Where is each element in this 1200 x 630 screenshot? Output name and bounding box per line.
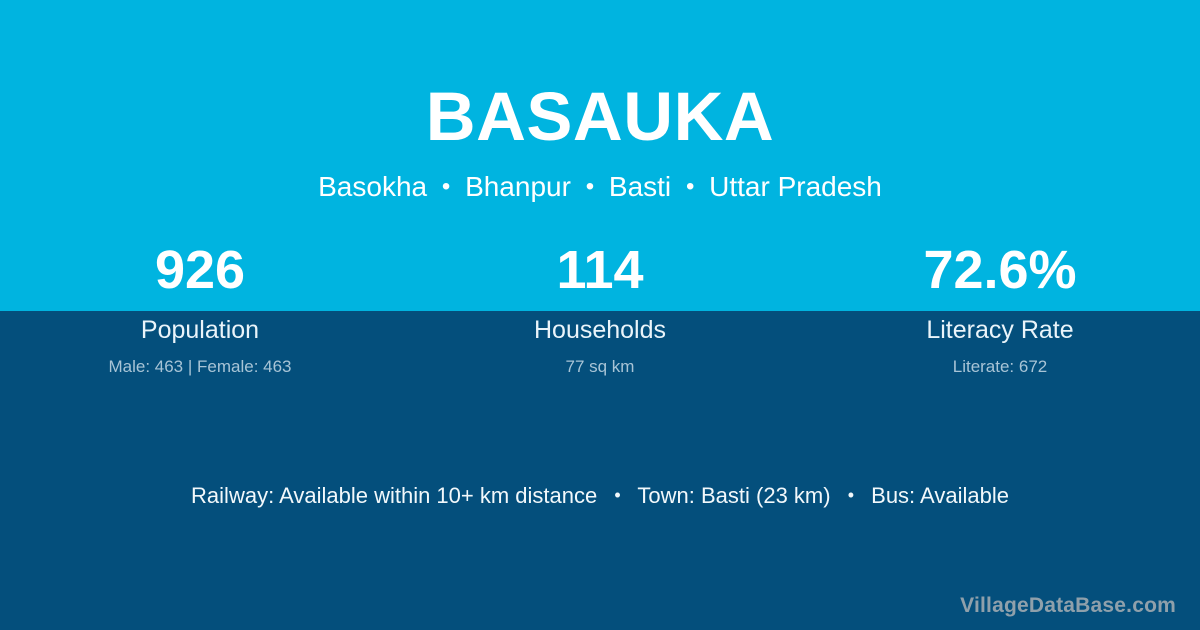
bullet-separator-icon: • (679, 173, 701, 200)
stats-row: 926 Population Male: 463 | Female: 463 1… (0, 243, 1200, 375)
stat-households: 114 Households 77 sq km (400, 243, 800, 375)
breadcrumb-item-block: Bhanpur (465, 171, 571, 202)
stat-sublabel: 77 sq km (400, 358, 800, 375)
breadcrumb-item-state: Uttar Pradesh (709, 171, 882, 202)
card-header: BASAUKA Basokha • Bhanpur • Basti • Utta… (0, 0, 1200, 201)
amenities-line: Railway: Available within 10+ km distanc… (0, 485, 1200, 507)
stat-value: 114 (400, 243, 800, 299)
stat-sublabel: Male: 463 | Female: 463 (0, 358, 400, 375)
bullet-separator-icon: • (603, 485, 631, 505)
stat-value: 926 (0, 243, 400, 299)
breadcrumb-item-village: Basokha (318, 171, 427, 202)
page-title: BASAUKA (0, 0, 1200, 151)
bullet-separator-icon: • (579, 173, 601, 200)
breadcrumb-item-district: Basti (609, 171, 671, 202)
stat-label: Population (0, 318, 400, 343)
stat-value: 72.6% (800, 243, 1200, 299)
amenity-bus: Bus: Available (871, 483, 1009, 508)
bullet-separator-icon: • (435, 173, 457, 200)
village-info-card: BASAUKA Basokha • Bhanpur • Basti • Utta… (0, 0, 1200, 630)
breadcrumb: Basokha • Bhanpur • Basti • Uttar Prades… (0, 151, 1200, 201)
stat-population: 926 Population Male: 463 | Female: 463 (0, 243, 400, 375)
amenity-town: Town: Basti (23 km) (637, 483, 830, 508)
stat-literacy-rate: 72.6% Literacy Rate Literate: 672 (800, 243, 1200, 375)
stat-label: Literacy Rate (800, 318, 1200, 343)
stat-sublabel: Literate: 672 (800, 358, 1200, 375)
stat-label: Households (400, 318, 800, 343)
amenity-railway: Railway: Available within 10+ km distanc… (191, 483, 597, 508)
bullet-separator-icon: • (837, 485, 865, 505)
site-brand: VillageDataBase.com (960, 595, 1176, 616)
